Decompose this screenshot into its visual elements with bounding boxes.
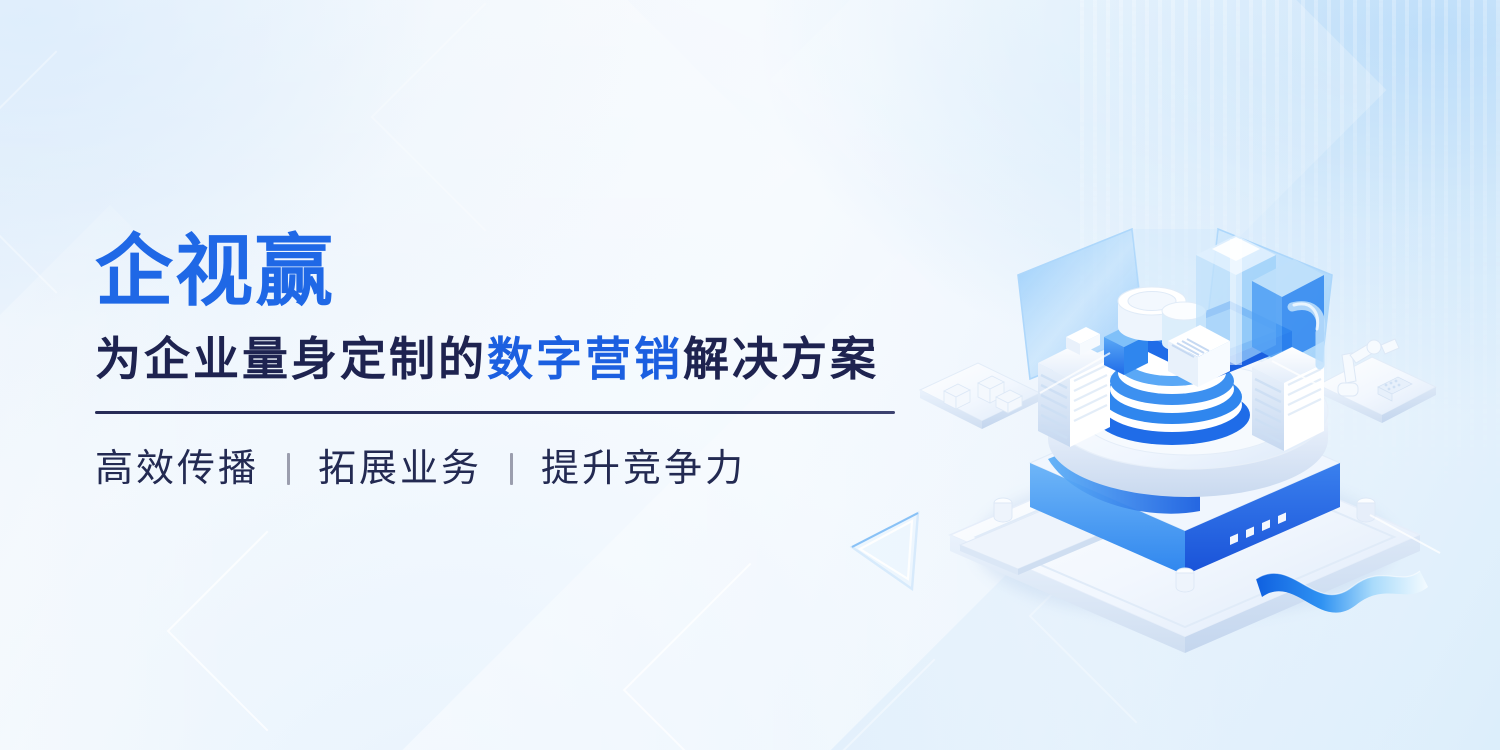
divider <box>95 411 895 414</box>
headline-tail: 解决方案 <box>683 333 879 385</box>
banner-copy: 企视赢 为企业量身定制的数字营销解决方案 高效传播 拓展业务 提升竞争力 <box>95 232 915 488</box>
tagline-separator-icon <box>510 453 513 485</box>
marketing-banner: 企视赢 为企业量身定制的数字营销解决方案 高效传播 拓展业务 提升竞争力 <box>0 0 1500 750</box>
robot-arm-tile <box>1318 339 1436 423</box>
brand-title: 企视赢 <box>95 232 915 310</box>
headline: 为企业量身定制的数字营销解决方案 <box>95 336 915 382</box>
headline-lead: 为企业量身定制的 <box>95 333 487 385</box>
headline-highlight: 数字营销 <box>487 333 683 385</box>
tagline-item-2: 拓展业务 <box>318 450 482 488</box>
white-tower-right <box>1252 347 1324 451</box>
corner-pin <box>1357 498 1375 522</box>
hero-illustration <box>900 215 1460 655</box>
corner-pin <box>1176 568 1194 592</box>
bg-chevron-icon <box>167 531 368 732</box>
glass-triangle <box>852 513 918 589</box>
tagline-item-3: 提升竞争力 <box>541 450 746 488</box>
tagline: 高效传播 拓展业务 提升竞争力 <box>95 450 915 488</box>
bg-chevron-icon <box>623 563 878 750</box>
bg-chevron-icon <box>370 2 599 231</box>
tagline-separator-icon <box>287 453 290 485</box>
side-city-tile <box>920 363 1040 429</box>
tagline-item-1: 高效传播 <box>95 450 259 488</box>
bg-chevron-icon <box>827 659 1042 750</box>
corner-pin <box>994 498 1012 522</box>
